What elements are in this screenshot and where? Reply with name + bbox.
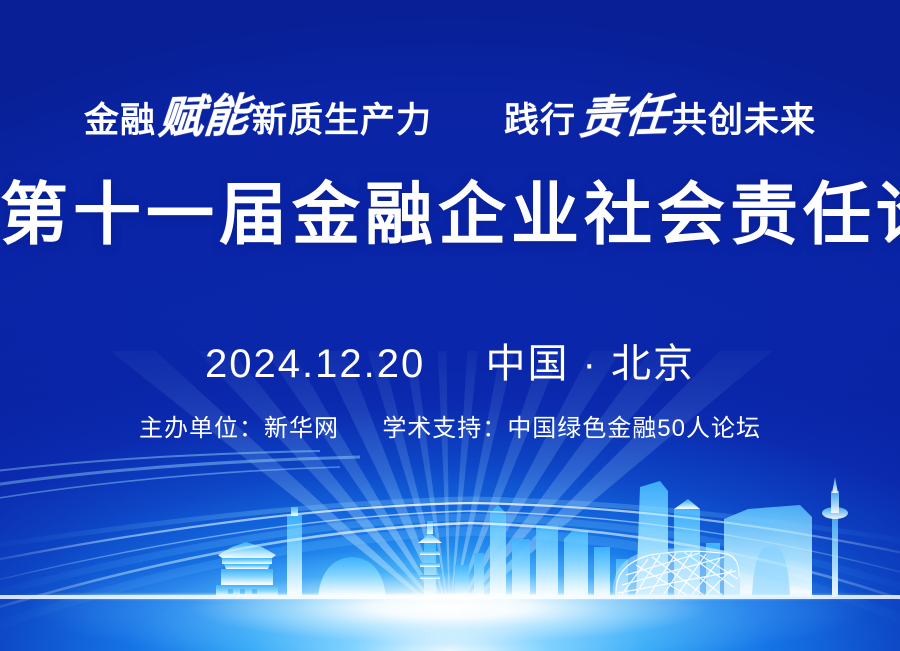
event-date: 2024.12.20	[205, 342, 425, 386]
event-location: 中国 · 北京	[485, 342, 695, 386]
tagline-1: 金融 赋能 新质生产力	[84, 94, 432, 139]
tagline-1-suffix: 新质生产力	[252, 103, 432, 138]
forum-poster: 金融 赋能 新质生产力 践行 责任 共创未来 第十一届金融企业社会责任论坛 20…	[0, 0, 900, 651]
tagline-row: 金融 赋能 新质生产力 践行 责任 共创未来	[0, 94, 900, 139]
page-title: 第十一届金融企业社会责任论坛	[0, 181, 900, 249]
academic-label: 学术支持：	[382, 415, 507, 442]
tagline-2-suffix: 共创未来	[672, 103, 816, 138]
event-date-location: 2024.12.20 中国 · 北京	[0, 331, 900, 389]
tagline-2-brush-word: 责任	[574, 92, 674, 140]
host-value: 新华网	[264, 415, 339, 442]
tagline-2: 践行 责任 共创未来	[504, 94, 816, 139]
academic-value: 中国绿色金融50人论坛	[507, 415, 761, 442]
credits-line: 主办单位：新华网 学术支持：中国绿色金融50人论坛	[0, 408, 900, 443]
tagline-1-prefix: 金融	[84, 103, 156, 138]
tagline-1-brush-word: 赋能	[154, 92, 254, 140]
host-label: 主办单位：	[139, 415, 264, 442]
tagline-2-prefix: 践行	[504, 103, 576, 138]
